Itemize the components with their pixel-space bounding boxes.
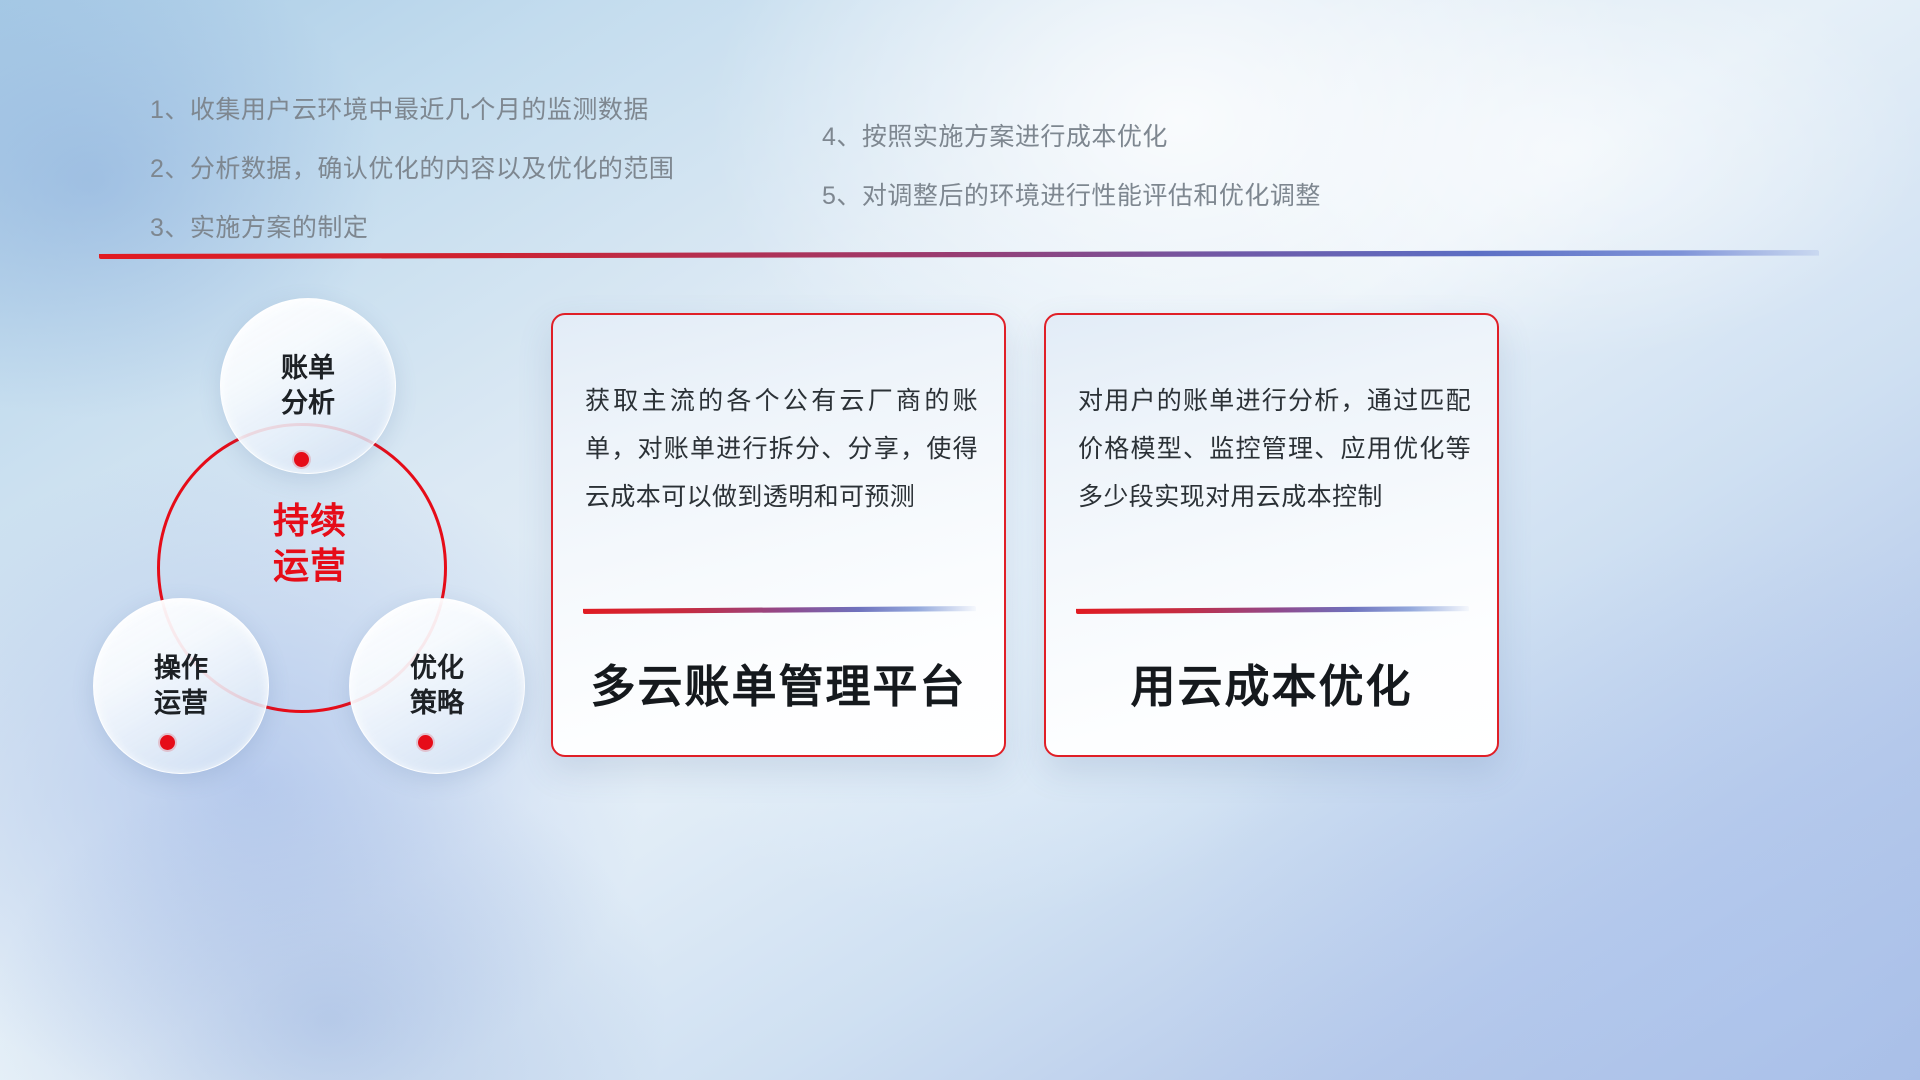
card-title-2: 用云成本优化 [1046,650,1497,715]
card-multi-cloud-bill-platform[interactable]: 获取主流的各个公有云厂商的账单，对账单进行拆分、分享，使得云成本可以做到透明和可… [551,313,1006,757]
bubble-bill-analysis[interactable]: 账单 分析 [220,298,396,474]
bubble-operation-ops[interactable]: 操作 运营 [93,598,269,774]
steps-left-column: 1、收集用户云环境中最近几个月的监测数据 2、分析数据，确认优化的内容以及优化的… [150,98,674,275]
step-item-1: 1、收集用户云环境中最近几个月的监测数据 [150,98,674,123]
bubble-label-bill-analysis: 账单 分析 [281,351,335,421]
node-dot-top [294,452,309,467]
card-divider-2 [1076,606,1469,614]
card-body-1: 获取主流的各个公有云厂商的账单，对账单进行拆分、分享，使得云成本可以做到透明和可… [585,377,978,521]
step-item-3: 3、实施方案的制定 [150,216,674,241]
slide-canvas: 1、收集用户云环境中最近几个月的监测数据 2、分析数据，确认优化的内容以及优化的… [0,0,1920,1080]
card-divider-1 [583,606,976,614]
card-title-1: 多云账单管理平台 [553,650,1004,715]
node-dot-bottom-left [160,735,175,750]
card-cloud-cost-optimization[interactable]: 对用户的账单进行分析，通过匹配价格模型、监控管理、应用优化等多少段实现对用云成本… [1044,313,1499,757]
bubble-optimize-strategy[interactable]: 优化 策略 [349,598,525,774]
bubble-label-optimize-strategy: 优化 策略 [410,651,464,721]
node-dot-bottom-right [418,735,433,750]
diagram-center-label: 持续 运营 [75,498,545,589]
card-body-2: 对用户的账单进行分析，通过匹配价格模型、监控管理、应用优化等多少段实现对用云成本… [1078,377,1471,521]
continuous-operation-diagram: 账单 分析 操作 运营 优化 策略 持续 运营 [75,288,545,788]
bubble-label-operation-ops: 操作 运营 [154,651,208,721]
step-item-2: 2、分析数据，确认优化的内容以及优化的范围 [150,157,674,182]
step-item-5: 5、对调整后的环境进行性能评估和优化调整 [822,184,1321,209]
step-item-4: 4、按照实施方案进行成本优化 [822,125,1321,150]
steps-right-column: 4、按照实施方案进行成本优化 5、对调整后的环境进行性能评估和优化调整 [822,125,1321,243]
